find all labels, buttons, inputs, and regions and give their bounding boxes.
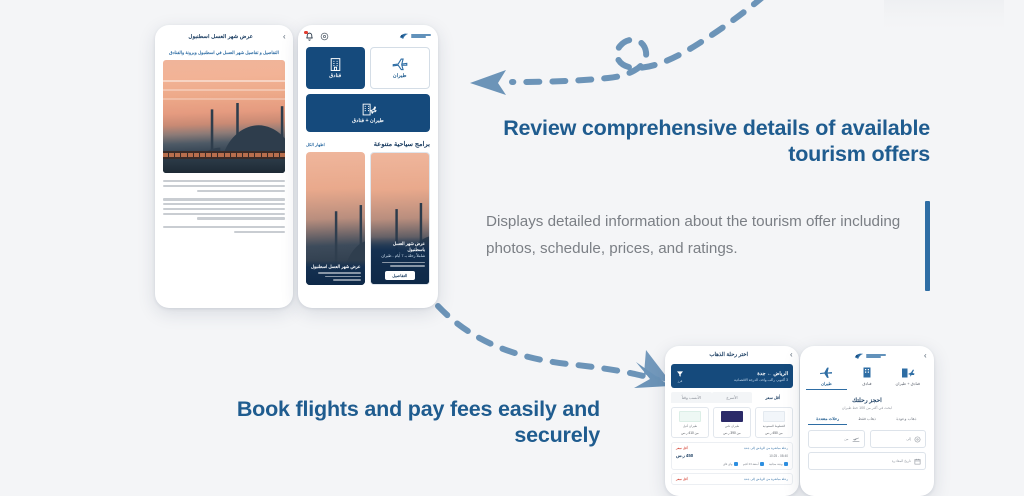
flight-route-note: رحلة مباشرة من الرياض إلى جدة bbox=[744, 477, 788, 481]
article-header: › عرض شهر العسل اسطنبول bbox=[155, 25, 293, 49]
flight-price: 450 ر.س bbox=[676, 453, 693, 459]
service-card-flights-hotels[interactable]: طيران + فنادق bbox=[306, 94, 430, 132]
airline-name: الخطوط السعودية bbox=[763, 424, 786, 428]
arrow-to-booking-screens-icon bbox=[418, 288, 698, 400]
offer-card[interactable]: عرض شهر العسل باسطنبول شاملاً رحلة بـ 7 … bbox=[370, 152, 431, 285]
trip-type-multi[interactable]: رحلات متعددة bbox=[808, 416, 847, 425]
article-body bbox=[155, 173, 293, 233]
flight-badge: أقل سعر bbox=[676, 477, 688, 481]
calendar-icon bbox=[914, 458, 921, 465]
destination-field[interactable]: إلى bbox=[870, 430, 927, 448]
offers-section-title: برامج سياحية متنوعة bbox=[374, 140, 430, 148]
slide-canvas: Review comprehensive details of availabl… bbox=[0, 0, 1024, 477]
logo-mark-icon bbox=[854, 352, 864, 360]
service-cards: فنادق طيران طيران + فنادق bbox=[298, 47, 438, 132]
tab-flights[interactable]: طيران bbox=[806, 366, 847, 390]
tab-hotels-label: فنادق bbox=[862, 381, 871, 386]
airline-price: من 410 ر.س bbox=[681, 431, 699, 435]
accent-bar bbox=[925, 201, 930, 291]
location-pin-icon bbox=[914, 436, 921, 443]
airline-card[interactable]: طيران أديل من 410 ر.س bbox=[671, 407, 709, 438]
airline-card[interactable]: طيران ناس من 390 ر.س bbox=[713, 407, 751, 438]
flight-search-results-screen: › اختر رحلة الذهاب الرياض ← جدة 3 أكتوبر… bbox=[665, 346, 799, 496]
page-title-booking: Book flights and pay fees easily and sec… bbox=[190, 396, 600, 448]
airline-price: من 390 ر.س bbox=[723, 431, 741, 435]
baggage-icon bbox=[760, 462, 764, 466]
building-plane-icon bbox=[360, 102, 377, 116]
airline-logo bbox=[763, 411, 785, 422]
airline-filter-cards: الخطوط السعودية من 450 ر.س طيران ناس من … bbox=[671, 407, 793, 438]
route-label: الرياض ← جدة bbox=[734, 371, 788, 377]
booking-fields: إلى من تاريخ المغادرة bbox=[800, 425, 934, 470]
tab-hotels-flights[interactable]: فنادق + طيران bbox=[887, 366, 928, 390]
sort-tab-best-time[interactable]: الأنسب وقتاً bbox=[671, 392, 712, 403]
notification-badge bbox=[304, 31, 308, 35]
logo-wordmark bbox=[411, 34, 431, 38]
article-subtitle: التفاصيل و تفاصيل شهر العسل في اسطنبول و… bbox=[155, 49, 293, 60]
offer-card-title: عرض شهر العسل باسطنبول bbox=[375, 241, 426, 253]
results-header: › اختر رحلة الذهاب bbox=[665, 346, 799, 364]
airline-logo bbox=[721, 411, 743, 422]
service-card-hotels-label: فنادق bbox=[329, 73, 341, 79]
offer-card-subtitle: شاملاً رحلة بـ 7 أيام - طيران bbox=[375, 254, 426, 260]
chevron-left-icon[interactable]: › bbox=[924, 352, 927, 360]
sort-tab-cheapest[interactable]: أقل سعر bbox=[752, 392, 793, 403]
building-icon bbox=[862, 366, 872, 379]
booking-form-screen: › فنادق + طيران bbox=[800, 346, 934, 496]
airline-name: طيران أديل bbox=[683, 424, 697, 428]
filter-label: فرز bbox=[678, 379, 683, 383]
offer-details-button[interactable]: التفاصيل bbox=[385, 271, 416, 280]
airline-name: طيران ناس bbox=[725, 424, 739, 428]
arrow-to-offer-details-icon bbox=[448, 0, 768, 104]
offer-card-caption: عرض شهر العسل اسطنبول bbox=[306, 260, 365, 285]
departure-date-field[interactable]: تاريخ المغادرة bbox=[808, 452, 926, 470]
chevron-left-icon[interactable]: › bbox=[283, 33, 286, 41]
booking-subtitle: ابحث في أكثر من 100 خط طيران bbox=[800, 406, 934, 410]
flight-results-list: رحلة مباشرة من الرياض إلى جدة أقل سعر 08… bbox=[671, 442, 793, 485]
tab-hotels-flights-label: فنادق + طيران bbox=[895, 381, 919, 386]
meal-icon bbox=[784, 462, 788, 466]
trip-type-oneway[interactable]: ذهاب فقط bbox=[847, 416, 886, 425]
filter-button[interactable]: فرز bbox=[676, 370, 684, 383]
origin-field-label: من bbox=[844, 437, 848, 441]
amenity-baggage: أمتعة 23 كجم bbox=[743, 462, 764, 466]
logo-mark-icon bbox=[399, 32, 409, 40]
building-plane-icon bbox=[900, 366, 915, 379]
service-card-flights[interactable]: طيران bbox=[370, 47, 431, 89]
origin-field[interactable]: من bbox=[808, 430, 865, 448]
route-summary-bar[interactable]: الرياض ← جدة 3 أكتوبر، راكب واحد، الدرجة… bbox=[671, 364, 793, 388]
offer-details-description: Displays detailed information about the … bbox=[486, 208, 911, 262]
offers-show-all-link[interactable]: اظهار الكل bbox=[306, 142, 325, 147]
trip-type-tabs: ذهاب وعودة ذهاب فقط رحلات متعددة bbox=[808, 416, 926, 425]
filter-icon bbox=[676, 370, 684, 378]
tab-hotels[interactable]: فنادق bbox=[847, 366, 888, 390]
service-card-flights-label: طيران bbox=[393, 73, 407, 79]
airline-price: من 450 ر.س bbox=[765, 431, 783, 435]
gear-icon[interactable] bbox=[320, 32, 329, 41]
chevron-left-icon[interactable]: › bbox=[790, 351, 793, 359]
amenity-wifi: واي فاي bbox=[723, 462, 738, 466]
article-title: عرض شهر العسل اسطنبول bbox=[162, 34, 279, 40]
airline-logo bbox=[679, 411, 701, 422]
flight-badge: أقل سعر bbox=[676, 446, 688, 450]
booking-header: › bbox=[800, 346, 934, 366]
wifi-icon bbox=[734, 462, 738, 466]
sort-tabs: أقل سعر الأسرع الأنسب وقتاً bbox=[671, 392, 793, 403]
offer-card-title: عرض شهر العسل اسطنبول bbox=[310, 264, 361, 270]
departure-date-label: تاريخ المغادرة bbox=[892, 459, 911, 463]
service-card-hotels[interactable]: فنادق bbox=[306, 47, 365, 89]
results-title: اختر رحلة الذهاب bbox=[671, 352, 786, 358]
flight-result-row[interactable]: رحلة مباشرة من الرياض إلى جدة أقل سعر 08… bbox=[671, 442, 793, 470]
offer-card-caption: عرض شهر العسل باسطنبول شاملاً رحلة بـ 7 … bbox=[371, 237, 430, 284]
page-title-offer-details: Review comprehensive details of availabl… bbox=[470, 115, 930, 167]
building-icon bbox=[329, 57, 342, 71]
trip-type-round[interactable]: ذهاب وعودة bbox=[887, 416, 926, 425]
airline-card[interactable]: الخطوط السعودية من 450 ر.س bbox=[755, 407, 793, 438]
booking-service-tabs: فنادق + طيران فنادق طي bbox=[800, 366, 934, 390]
airplane-icon bbox=[819, 366, 833, 379]
service-card-flights-hotels-label: طيران + فنادق bbox=[352, 118, 384, 124]
booking-title: احجز رحلتك bbox=[800, 397, 934, 404]
offer-card[interactable]: عرض شهر العسل اسطنبول bbox=[306, 152, 365, 285]
logo-wordmark bbox=[866, 354, 886, 358]
sort-tab-fastest[interactable]: الأسرع bbox=[712, 392, 753, 403]
offers-section-header: برامج سياحية متنوعة اظهار الكل bbox=[298, 132, 438, 152]
home-topbar bbox=[298, 25, 438, 47]
article-hero-image bbox=[163, 60, 285, 173]
route-details: 3 أكتوبر، راكب واحد، الدرجة الاقتصادية bbox=[734, 378, 788, 382]
tourism-offer-article-screen: › عرض شهر العسل اسطنبول التفاصيل و تفاصي… bbox=[155, 25, 293, 308]
flight-result-row[interactable]: رحلة مباشرة من الرياض إلى جدة أقل سعر bbox=[671, 473, 793, 485]
decorative-top-band bbox=[884, 0, 1004, 30]
airplane-icon bbox=[392, 57, 408, 71]
destination-field-label: إلى bbox=[906, 437, 911, 441]
flight-time: 08:40 - 10:25 bbox=[769, 454, 788, 458]
airplane-takeoff-icon bbox=[852, 436, 860, 443]
flight-route-note: رحلة مباشرة من الرياض إلى جدة bbox=[744, 446, 788, 450]
tab-flights-label: طيران bbox=[821, 381, 832, 386]
offers-list: عرض شهر العسل اسطنبول عرض شهر العسل bbox=[298, 152, 438, 285]
brand-logo bbox=[854, 352, 886, 360]
bell-icon[interactable] bbox=[305, 32, 314, 41]
amenity-meal: وجبة مجانية bbox=[769, 462, 788, 466]
home-services-screen: فنادق طيران طيران + فنادق bbox=[298, 25, 438, 308]
brand-logo bbox=[399, 32, 431, 40]
